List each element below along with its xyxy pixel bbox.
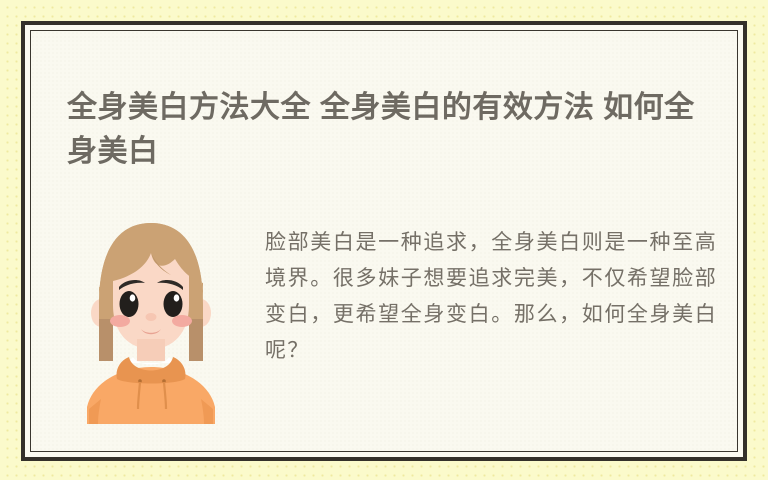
hair-strand-left — [99, 319, 113, 361]
article-body: 脸部美白是一种追求，全身美白则是一种至高境界。很多妹子想要追求完美，不仅希望脸部… — [265, 224, 717, 368]
nose-icon — [146, 313, 157, 321]
eye-right-highlight — [174, 294, 180, 301]
page-title: 全身美白方法大全 全身美白的有效方法 如何全身美白 — [67, 86, 717, 174]
article-card-outer-frame: 全身美白方法大全 全身美白的有效方法 如何全身美白 — [21, 21, 747, 461]
article-card: 全身美白方法大全 全身美白的有效方法 如何全身美白 — [30, 30, 738, 452]
eye-right-icon — [164, 291, 183, 317]
page-root: 全身美白方法大全 全身美白的有效方法 如何全身美白 — [0, 0, 768, 480]
eye-left-highlight — [130, 294, 136, 301]
blush-left — [110, 315, 130, 327]
avatar — [71, 209, 231, 424]
blush-right — [172, 315, 192, 327]
neck — [137, 339, 165, 361]
hair-strand-right — [189, 319, 203, 361]
eye-left-icon — [120, 291, 139, 317]
girl-avatar-illustration — [71, 209, 231, 424]
